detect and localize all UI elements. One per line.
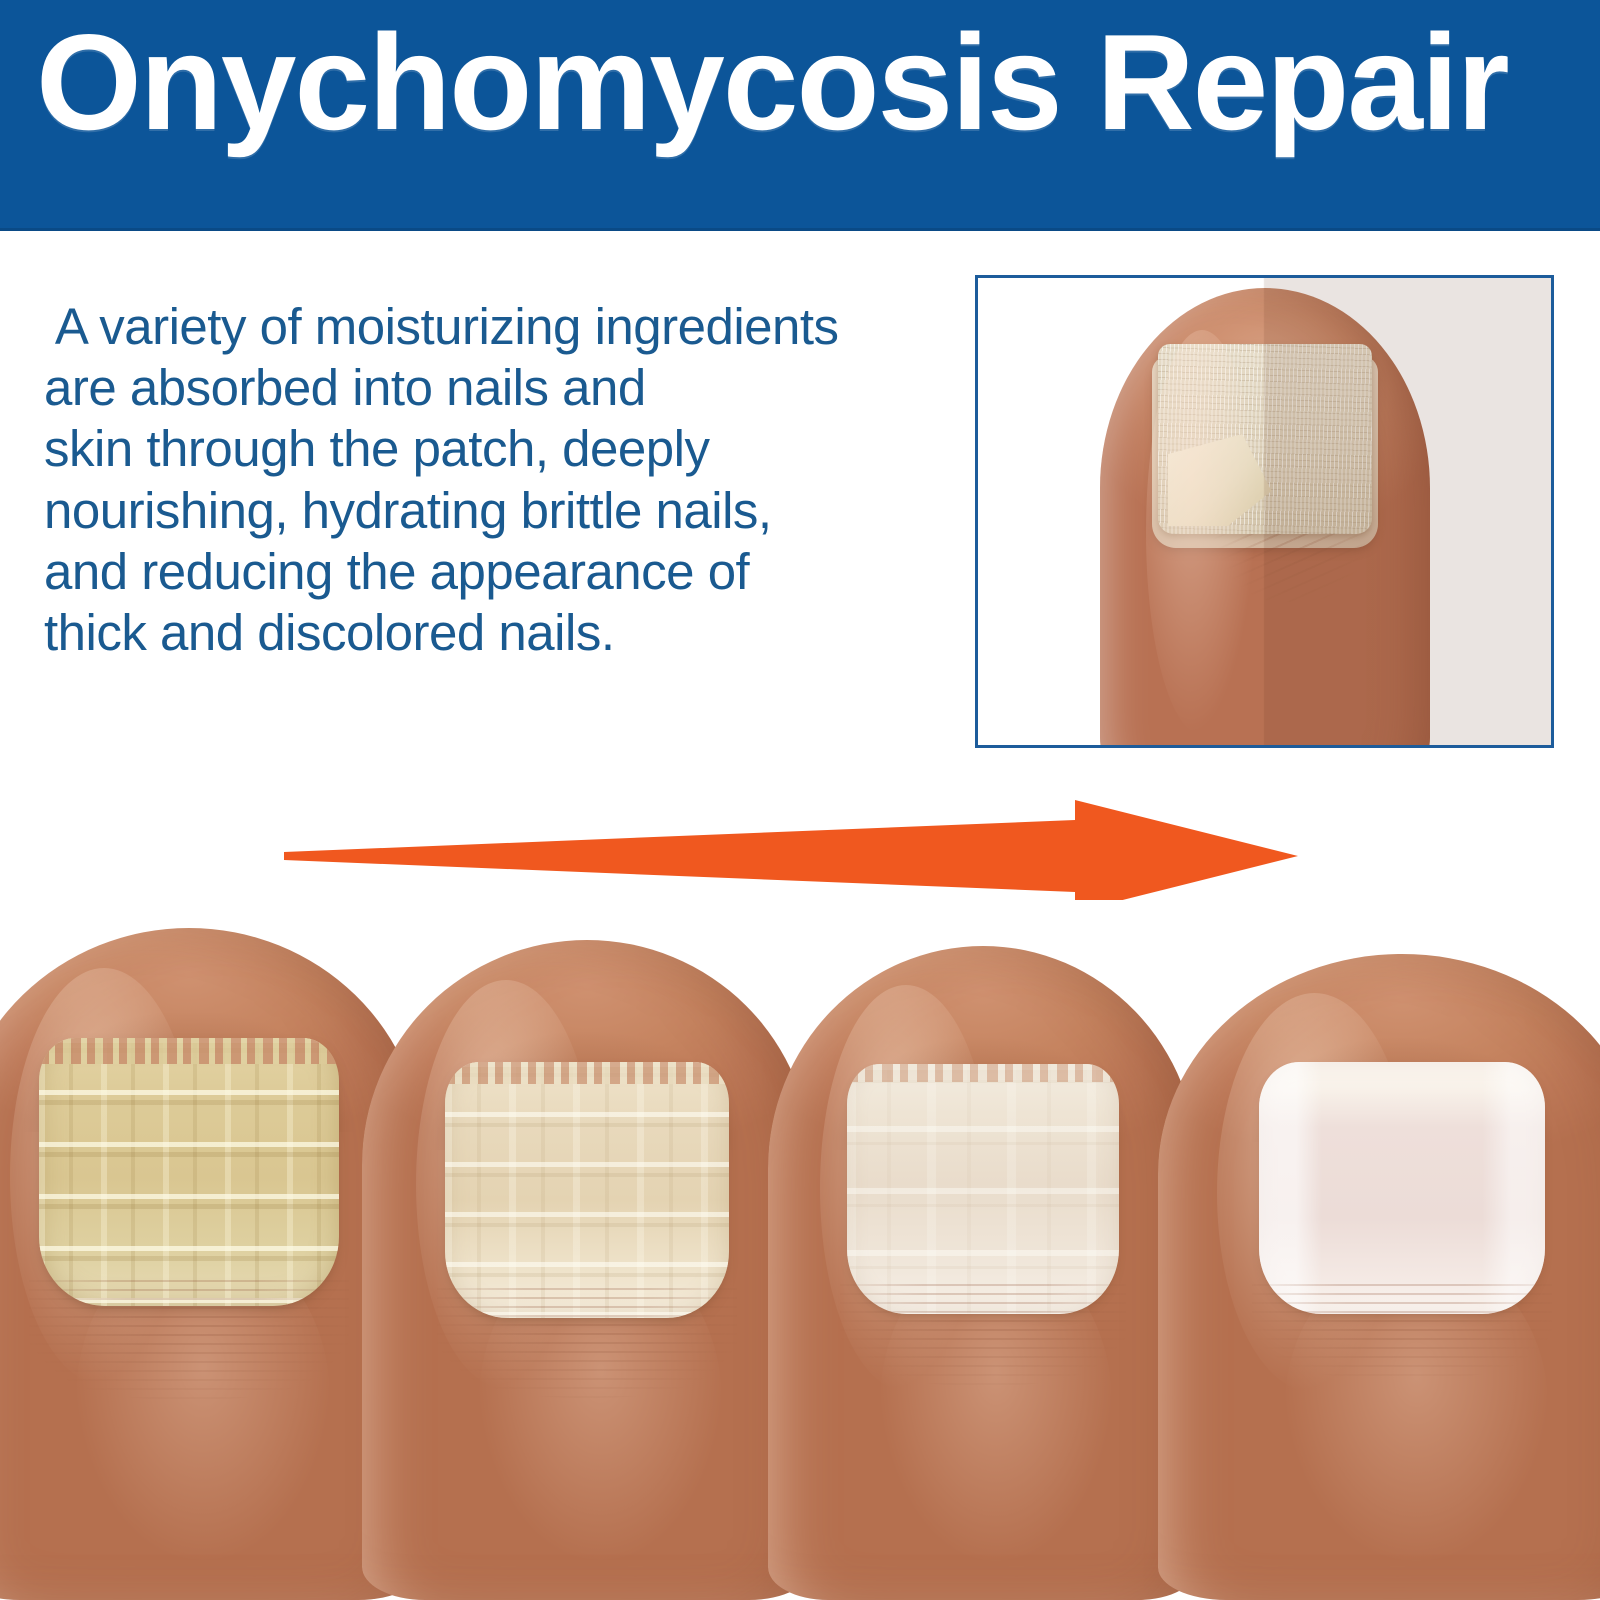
description-line: skin through the patch, deeply <box>44 418 904 479</box>
nail-plate-stage-1 <box>39 1038 339 1306</box>
page-title: Onychomycosis Repair <box>36 14 1508 150</box>
description-line: thick and discolored nails. <box>44 602 904 663</box>
toe-stage-3 <box>768 946 1198 1600</box>
inset-image-canvas <box>978 278 1551 745</box>
skin-fold-wrinkles <box>1252 1284 1552 1380</box>
poster-canvas: Onychomycosis Repair A variety of moistu… <box>0 0 1600 1600</box>
nail-plate-stage-4 <box>1259 1062 1545 1314</box>
description-line: A variety of moisturizing ingredients <box>44 296 904 357</box>
description-line: nourishing, hydrating brittle nails, <box>44 480 904 541</box>
skin-fold-wrinkles <box>29 1280 349 1400</box>
nail-healing-stages <box>0 900 1600 1600</box>
skin-fold-wrinkles <box>840 1284 1126 1386</box>
inset-toe-illustration <box>1100 288 1430 745</box>
nail-ridges <box>445 1062 729 1318</box>
nail-ridges <box>39 1038 339 1306</box>
toe-stage-1 <box>0 928 424 1600</box>
toe-with-patch-photo <box>975 275 1554 748</box>
skin-fold-wrinkles <box>437 1288 737 1398</box>
header-banner: Onychomycosis Repair <box>0 0 1600 231</box>
nail-top-crumble <box>847 1064 1119 1082</box>
nail-ridges <box>1259 1062 1545 1314</box>
patch-peel-corner <box>1168 434 1272 526</box>
nail-ridges <box>847 1064 1119 1314</box>
description-line: are absorbed into nails and <box>44 357 904 418</box>
nail-repair-patch <box>1158 344 1372 534</box>
description-text: A variety of moisturizing ingredients ar… <box>44 296 904 663</box>
nail-top-crumble <box>39 1038 339 1064</box>
toe-stage-4 <box>1158 954 1600 1600</box>
nail-plate-stage-3 <box>847 1064 1119 1314</box>
nail-plate-stage-2 <box>445 1062 729 1318</box>
toe-stage-2 <box>362 940 812 1600</box>
description-line: and reducing the appearance of <box>44 541 904 602</box>
toe-gap-2-3 <box>752 900 838 1028</box>
nail-top-crumble <box>445 1062 729 1084</box>
